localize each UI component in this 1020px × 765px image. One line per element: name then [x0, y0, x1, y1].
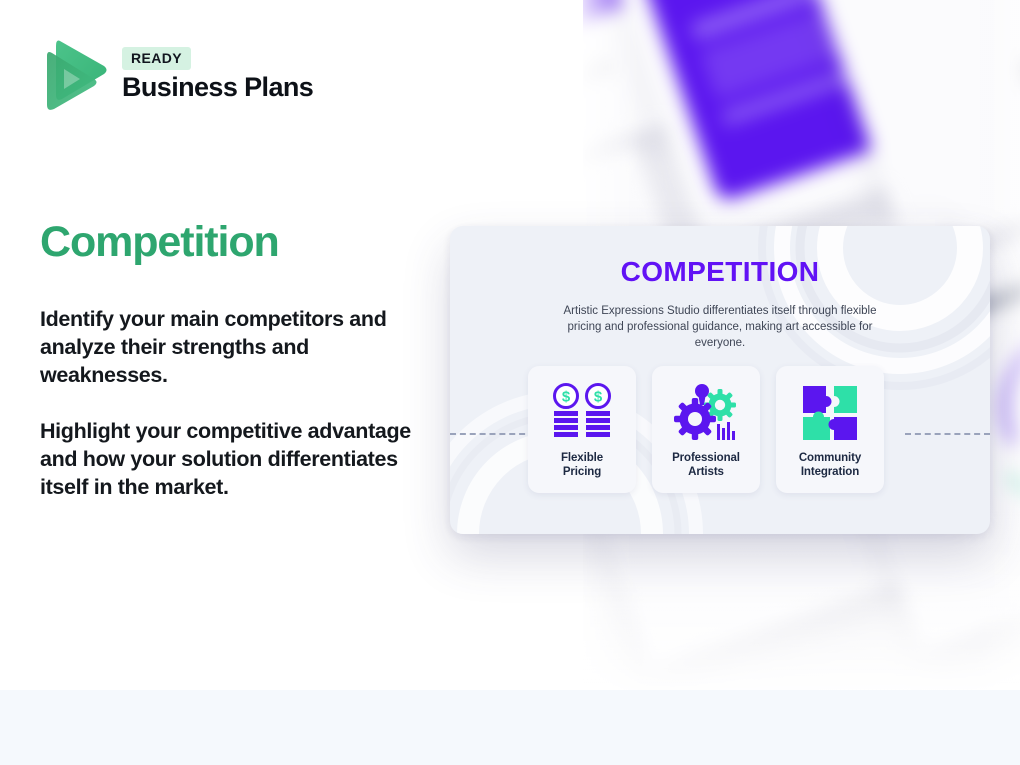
- gears-lightbulb-icon: [673, 377, 739, 449]
- page-root: READY Business Plans Competition Identif…: [0, 0, 1020, 765]
- feature-label: Professional Artists: [672, 451, 740, 479]
- play-logo-icon: [40, 38, 108, 112]
- bar-chart-icon: [717, 422, 735, 440]
- body-paragraph-1: Identify your main competitors and analy…: [40, 305, 432, 389]
- svg-text:$: $: [562, 389, 571, 406]
- feature-row: $ $: [528, 366, 884, 493]
- slide-preview-card[interactable]: COMPETITION Artistic Expressions Studio …: [450, 226, 990, 534]
- coin-stacks-icon: $ $: [551, 377, 613, 449]
- feature-card-flexible-pricing[interactable]: $ $: [528, 366, 636, 493]
- feature-card-professional-artists[interactable]: Professional Artists: [652, 366, 760, 493]
- card-subtitle: Artistic Expressions Studio differentiat…: [560, 303, 880, 351]
- feature-label: Community Integration: [799, 451, 861, 479]
- brand-name: Business Plans: [122, 72, 313, 103]
- card-title: COMPETITION: [450, 256, 990, 288]
- body-paragraph-2: Highlight your competitive advantage and…: [40, 417, 432, 501]
- page-title: Competition: [40, 218, 279, 267]
- bottom-strip: [0, 690, 1020, 765]
- connector-dashed-line: [450, 433, 535, 435]
- connector-dashed-line: [905, 433, 990, 435]
- body-copy: Identify your main competitors and analy…: [40, 305, 432, 501]
- svg-text:$: $: [594, 389, 603, 406]
- brand-logo[interactable]: READY Business Plans: [40, 38, 313, 112]
- feature-card-community-integration[interactable]: Community Integration: [776, 366, 884, 493]
- puzzle-pieces-icon: [799, 377, 861, 449]
- ready-badge: READY: [122, 47, 191, 70]
- feature-label: Flexible Pricing: [561, 451, 603, 479]
- gear-icon-purple: [674, 398, 716, 440]
- panel-edge-fade: [583, 510, 1020, 690]
